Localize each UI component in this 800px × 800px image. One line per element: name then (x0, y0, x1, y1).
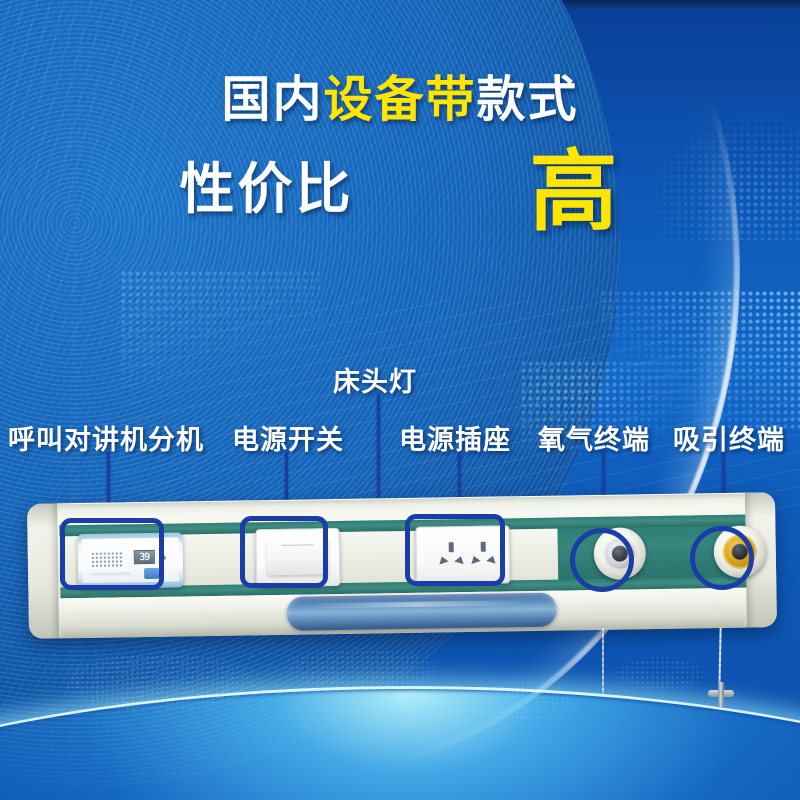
rail-body: 39 (27, 492, 777, 639)
socket-pin-left-icon (469, 554, 481, 564)
callout-label-intercom: 呼叫对讲机分机 (8, 418, 204, 457)
suction-terminal-ring (723, 534, 758, 569)
oxygen-terminal-port-icon (612, 545, 628, 561)
pull-handle-stem-icon (718, 682, 724, 708)
cord-pull-handle[interactable] (708, 682, 734, 708)
product-banner: 国内设备带款式 性价比高 呼叫对讲机分机 电源开关 床头灯 电源插座 氧气终端 … (0, 0, 800, 800)
rail-end-cap-left (27, 503, 59, 638)
power-switch-plate[interactable] (255, 528, 340, 587)
socket-pin-vertical-icon (449, 542, 454, 552)
socket-outlet-1[interactable] (437, 542, 467, 570)
callout-label-bed-lamp: 床头灯 (333, 360, 417, 399)
socket-pin-left-icon (437, 555, 449, 565)
intercom-faceplate: 39 (82, 538, 180, 584)
halftone-dots-upper (640, 110, 800, 240)
oxygen-terminal-ring (603, 536, 638, 571)
callout-label-power-switch: 电源开关 (232, 418, 344, 457)
rocker-switch[interactable] (267, 538, 330, 575)
indicator-led-icon (162, 556, 166, 560)
bed-lamp-diffuser[interactable] (286, 593, 557, 631)
socket-pin-right-icon (486, 554, 498, 564)
callout-label-suction: 吸引终端 (673, 418, 785, 457)
nurse-call-intercom-unit[interactable]: 39 (77, 532, 183, 589)
callout-label-oxygen: 氧气终端 (538, 418, 650, 457)
intercom-display: 39 (134, 550, 155, 564)
call-button[interactable] (144, 568, 159, 579)
socket-faceplate (424, 532, 503, 575)
oxygen-hose-cord (602, 628, 604, 694)
bed-head-unit: 39 (27, 492, 777, 639)
power-socket-plate[interactable] (415, 525, 510, 584)
intercom-vent-slot (91, 572, 131, 576)
callout-label-power-socket: 电源插座 (399, 418, 511, 457)
socket-pin-vertical-icon (481, 542, 486, 552)
speaker-grille-icon (91, 551, 124, 567)
socket-outlet-2[interactable] (469, 541, 499, 569)
socket-pin-right-icon (454, 555, 466, 565)
suction-terminal-port-icon (732, 544, 748, 560)
halftone-dots-left (120, 270, 320, 390)
